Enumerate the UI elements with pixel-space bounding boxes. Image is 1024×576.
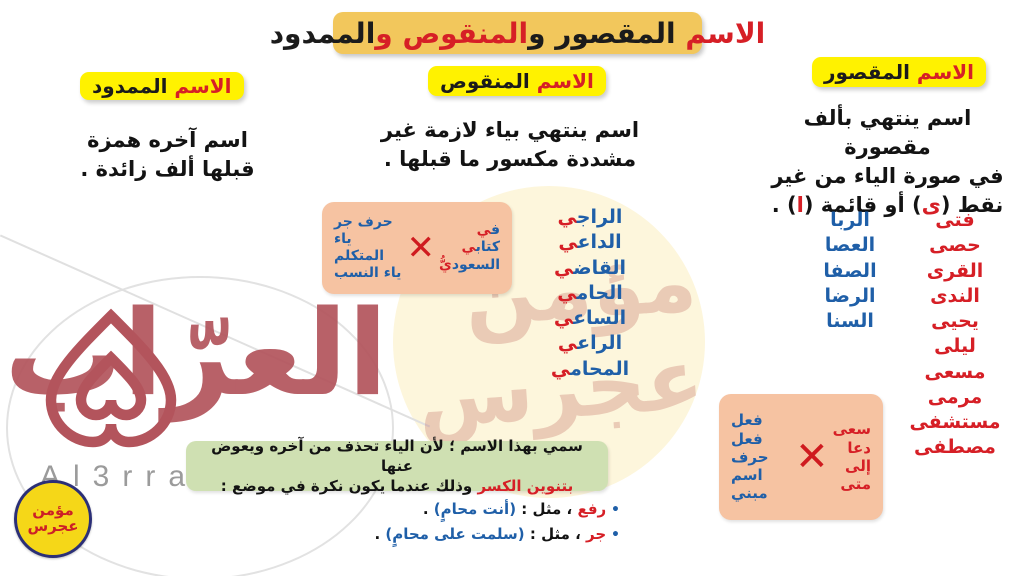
column-header-mamdud: الاسم الممدود xyxy=(80,72,244,100)
definition-maqsur-line2: في صورة الياء من غير xyxy=(760,162,1015,191)
word-item: الندى xyxy=(900,284,1010,309)
word-item: الراعي xyxy=(530,331,650,356)
exclusion-reason: اسم مبني xyxy=(731,466,791,503)
exclusion-reason: فعل xyxy=(731,430,791,448)
word-item: الصفا xyxy=(800,259,900,284)
definition-manqus-line2: مشددة مكسور ما قبلها . xyxy=(370,145,650,174)
note-bullet: • رفع ، مثل : (أنت محامٍ) . xyxy=(330,497,620,522)
note-bullet-separator: ، مثل : xyxy=(525,525,581,543)
word-stem: الحام xyxy=(576,282,622,304)
note-bullet-list: • رفع ، مثل : (أنت محامٍ) . • جر ، مثل :… xyxy=(330,497,620,546)
exclusion-examples-manqus: فيكتابيالسعوديُّ xyxy=(439,222,500,273)
note-bullet-dot: • xyxy=(606,502,620,518)
column-header-maqsur-red: الاسم xyxy=(917,60,974,84)
note-box: سمي بهذا الاسم ؛ لأن الياء تحذف من آخره … xyxy=(186,441,608,491)
definition-maqsur-line1: اسم ينتهي بألف مقصورة xyxy=(760,104,1015,162)
exclusion-example: سعى xyxy=(833,420,871,438)
word-item: الرضا xyxy=(800,284,900,309)
note-bullet-case: رفع xyxy=(572,500,606,518)
note-line2-highlight: بتنوين الكسر xyxy=(477,477,573,495)
exclusion-example-stem: السعود xyxy=(452,257,500,273)
column-header-mamdud-black: الممدود xyxy=(92,74,167,98)
exclusion-examples-maqsur: سعىدعاإلىمتى xyxy=(833,420,871,493)
word-stem: الساع xyxy=(573,307,626,329)
word-item: يحيى xyxy=(900,309,1010,334)
word-item: القاضي xyxy=(530,256,650,281)
exclusion-example: كتابي xyxy=(439,239,500,256)
column-header-manqus-red: الاسم xyxy=(537,69,594,93)
word-item: الحامي xyxy=(530,281,650,306)
slide-title: الاسم المقصور والمنقوص والممدود xyxy=(333,12,702,54)
column-header-manqus: الاسم المنقوص xyxy=(428,66,606,96)
author-badge: مؤمن عجرس xyxy=(14,480,92,558)
word-item: فتى xyxy=(900,208,1010,233)
word-stem: الداع xyxy=(578,231,622,253)
exclusion-example-tail: يُّ xyxy=(439,257,452,273)
note-bullet-example: (سلمت على محامٍ) xyxy=(380,525,524,543)
exclusion-example-tail: ي xyxy=(461,239,475,255)
exclusion-reasons-manqus: حرف جرياء المتكلمياء النسب xyxy=(334,214,402,282)
word-item: مرمى xyxy=(900,385,1010,410)
definition-maqsur-l3c: ) . xyxy=(772,193,797,217)
word-stem: المحام xyxy=(570,358,629,380)
exclusion-box-manqus: فيكتابيالسعوديُّ ✕ حرف جرياء المتكلمياء … xyxy=(322,202,512,294)
exclusion-reason: حرف جر xyxy=(334,214,402,231)
word-list-maqsur-red: فتىحصىالقرىالندىيحيىليلىمسعىمرمىمستشفىمص… xyxy=(900,208,1010,461)
definition-manqus: اسم ينتهي بياء لازمة غير مشددة مكسور ما … xyxy=(370,116,650,174)
note-bullet: • جر ، مثل : (سلمت على محامٍ) . xyxy=(330,522,620,547)
definition-mamdud-line1: اسم آخره همزة xyxy=(60,126,275,155)
word-item: الربا xyxy=(800,208,900,233)
word-item: السنا xyxy=(800,309,900,334)
exclusion-example-tail: ي xyxy=(477,222,491,238)
column-header-manqus-black: المنقوص xyxy=(440,69,530,93)
definition-manqus-line1: اسم ينتهي بياء لازمة غير xyxy=(370,116,650,145)
word-item: مسعى xyxy=(900,360,1010,385)
note-bullet-dot: • xyxy=(606,527,620,543)
word-item: الساعي xyxy=(530,306,650,331)
word-stem: القاض xyxy=(573,257,626,279)
note-line2-rest: وذلك عندما يكون نكرة في موضع : xyxy=(221,477,472,495)
definition-mamdud: اسم آخره همزة قبلها ألف زائدة . xyxy=(60,126,275,184)
word-stem: الراج xyxy=(577,206,623,228)
slide-canvas: مؤمن عجرس العرّاب Al3rrab مؤمن عجرس الاس… xyxy=(0,0,1024,576)
word-item: مستشفى xyxy=(900,410,1010,435)
word-item: مصطفى xyxy=(900,435,1010,460)
exclusion-box-maqsur: سعىدعاإلىمتى ✕ فعلفعلحرفاسم مبني xyxy=(719,394,883,520)
column-header-mamdud-red: الاسم xyxy=(174,74,231,98)
word-item: ليلى xyxy=(900,334,1010,359)
word-item: العصا xyxy=(800,233,900,258)
word-item: المحامي xyxy=(530,357,650,382)
word-tail: ي xyxy=(551,358,570,380)
slide-title-part-4: الممدود xyxy=(270,17,376,50)
exclusion-example: في xyxy=(439,222,500,239)
word-tail: ي xyxy=(558,332,577,354)
exclusion-reasons-maqsur: فعلفعلحرفاسم مبني xyxy=(731,411,791,502)
word-list-manqus: الراجيالداعيالقاضيالحاميالساعيالراعيالمح… xyxy=(530,205,650,382)
slide-title-part-1: الاسم xyxy=(685,17,765,50)
exclusion-reason: فعل xyxy=(731,411,791,429)
exclusion-reason: حرف xyxy=(731,448,791,466)
author-badge-line2: عجرس xyxy=(27,519,78,535)
cross-icon-manqus: ✕ xyxy=(402,231,439,265)
exclusion-example-stem: كتاب xyxy=(476,239,500,255)
word-tail: ي xyxy=(558,206,577,228)
brand-calligraphy: العرّاب xyxy=(4,294,388,412)
word-item: الداعي xyxy=(530,230,650,255)
exclusion-example: دعا xyxy=(833,439,871,457)
column-header-maqsur: الاسم المقصور xyxy=(812,57,986,87)
exclusion-example: السعوديُّ xyxy=(439,257,500,274)
note-bullet-separator: ، مثل : xyxy=(516,500,572,518)
note-bullet-case: جر xyxy=(581,525,606,543)
definition-mamdud-line2: قبلها ألف زائدة . xyxy=(60,155,275,184)
word-tail: ي xyxy=(558,231,577,253)
word-item: حصى xyxy=(900,233,1010,258)
slide-title-part-3: المنقوص و xyxy=(375,17,528,50)
definition-maqsur: اسم ينتهي بألف مقصورة في صورة الياء من غ… xyxy=(760,104,1015,220)
cross-icon-maqsur: ✕ xyxy=(791,437,833,477)
column-header-maqsur-black: المقصور xyxy=(824,60,910,84)
exclusion-example-stem: ف xyxy=(491,222,500,238)
note-bullet-example: (أنت محامٍ) xyxy=(429,500,517,518)
word-item: القرى xyxy=(900,259,1010,284)
word-tail: ي xyxy=(557,282,576,304)
slide-title-part-2: المقصور و xyxy=(528,17,675,50)
word-item: الراجي xyxy=(530,205,650,230)
note-line1: سمي بهذا الاسم ؛ لأن الياء تحذف من آخره … xyxy=(196,436,598,476)
word-list-maqsur-blue: الرباالعصاالصفاالرضاالسنا xyxy=(800,208,900,334)
word-tail: ي xyxy=(554,257,573,279)
word-stem: الراع xyxy=(577,332,622,354)
exclusion-example: متى xyxy=(833,475,871,493)
exclusion-example: إلى xyxy=(833,457,871,475)
note-line2: بتنوين الكسر وذلك عندما يكون نكرة في موض… xyxy=(196,476,598,496)
exclusion-reason: ياء المتكلم xyxy=(334,231,402,265)
word-tail: ي xyxy=(554,307,573,329)
exclusion-reason: ياء النسب xyxy=(334,265,402,282)
